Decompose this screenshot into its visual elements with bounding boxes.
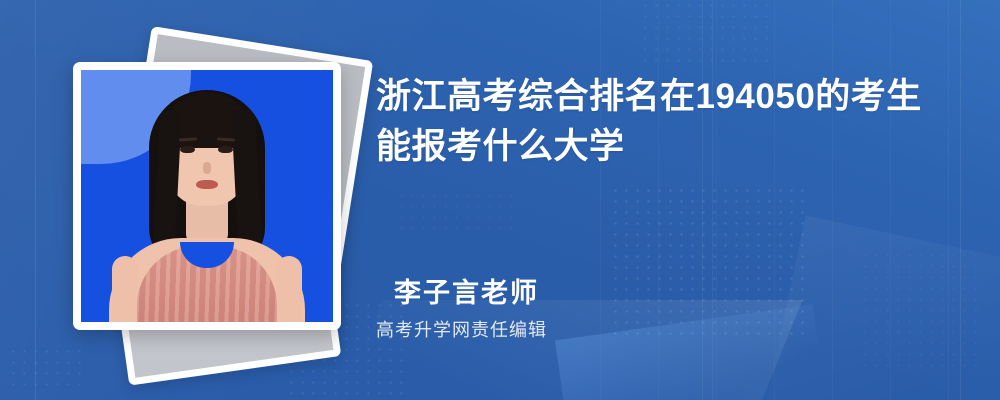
portrait-eye-left — [180, 146, 195, 153]
page-title: 浙江高考综合排名在194050的考生能报考什么大学 — [376, 72, 956, 171]
photo-stack — [40, 30, 350, 370]
portrait-eye-right — [218, 146, 233, 153]
author-role: 高考升学网责任编辑 — [376, 316, 547, 342]
banner-text-block: 浙江高考综合排名在194050的考生能报考什么大学 李子言老师 高考升学网责任编… — [376, 0, 976, 400]
portrait-lips — [196, 180, 218, 189]
portrait-nose — [203, 162, 211, 174]
author-name: 李子言老师 — [394, 271, 539, 310]
article-cover-banner: 浙江高考综合排名在194050的考生能报考什么大学 李子言老师 高考升学网责任编… — [0, 0, 1000, 400]
portrait-arm-left — [112, 256, 138, 322]
portrait-photo — [81, 70, 333, 322]
author-portrait-card — [73, 62, 341, 330]
portrait-arm-right — [276, 256, 302, 322]
